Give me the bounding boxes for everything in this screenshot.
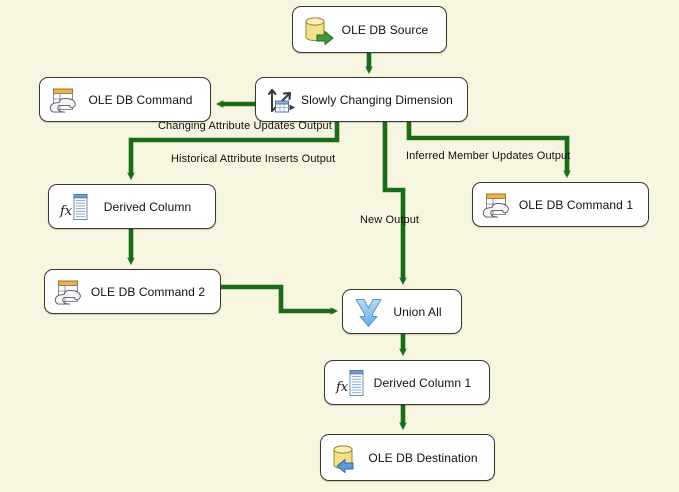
database-green-out-icon (302, 13, 336, 47)
node-label: OLE DB Source (336, 23, 446, 37)
edge-label-inferred-member-updates-output: Inferred Member Updates Output (406, 150, 570, 162)
node-ole-db-command-2[interactable]: OLE DB Command 2 (44, 269, 221, 314)
database-blue-in-icon (330, 441, 364, 475)
node-derived-column-1[interactable]: Derived Column 1 (324, 360, 490, 405)
edge-ole-db-command-2-to-union-all (221, 287, 334, 311)
fx-column-icon (58, 190, 92, 224)
node-label: OLE DB Command (83, 93, 210, 107)
data-flow-canvas: fx (0, 0, 679, 492)
edge-scd-to-ole-db-command-1 (409, 122, 567, 174)
scd-arrows-grid-icon (265, 83, 299, 117)
union-funnel-icon (352, 295, 386, 329)
edge-label-historical-attribute-inserts-output: Historical Attribute Inserts Output (171, 153, 335, 165)
edge-label-changing-attribute-updates-output: Changing Attribute Updates Output (158, 120, 332, 132)
node-label: Derived Column 1 (368, 376, 489, 390)
node-ole-db-command[interactable]: OLE DB Command (39, 77, 211, 122)
edge-label-new-output: New Output (360, 214, 419, 226)
fx-column-icon (334, 366, 368, 400)
node-ole-db-destination[interactable]: OLE DB Destination (320, 434, 495, 481)
node-derived-column[interactable]: Derived Column (48, 184, 216, 229)
node-label: OLE DB Command 2 (88, 285, 220, 299)
table-scroll-icon (54, 275, 88, 309)
connector-layer: fx (0, 0, 679, 492)
node-ole-db-command-1[interactable]: OLE DB Command 1 (472, 182, 649, 227)
node-label: Derived Column (92, 200, 215, 214)
node-ole-db-source[interactable]: OLE DB Source (292, 6, 447, 53)
edge-scd-to-union-all (385, 122, 403, 281)
node-label: Slowly Changing Dimension (299, 93, 467, 107)
table-scroll-icon (482, 188, 516, 222)
node-label: OLE DB Command 1 (516, 198, 648, 212)
node-label: Union All (386, 305, 461, 319)
node-slowly-changing-dimension[interactable]: Slowly Changing Dimension (255, 77, 468, 122)
table-scroll-icon (49, 83, 83, 117)
node-label: OLE DB Destination (364, 451, 494, 465)
node-union-all[interactable]: Union All (342, 289, 462, 334)
